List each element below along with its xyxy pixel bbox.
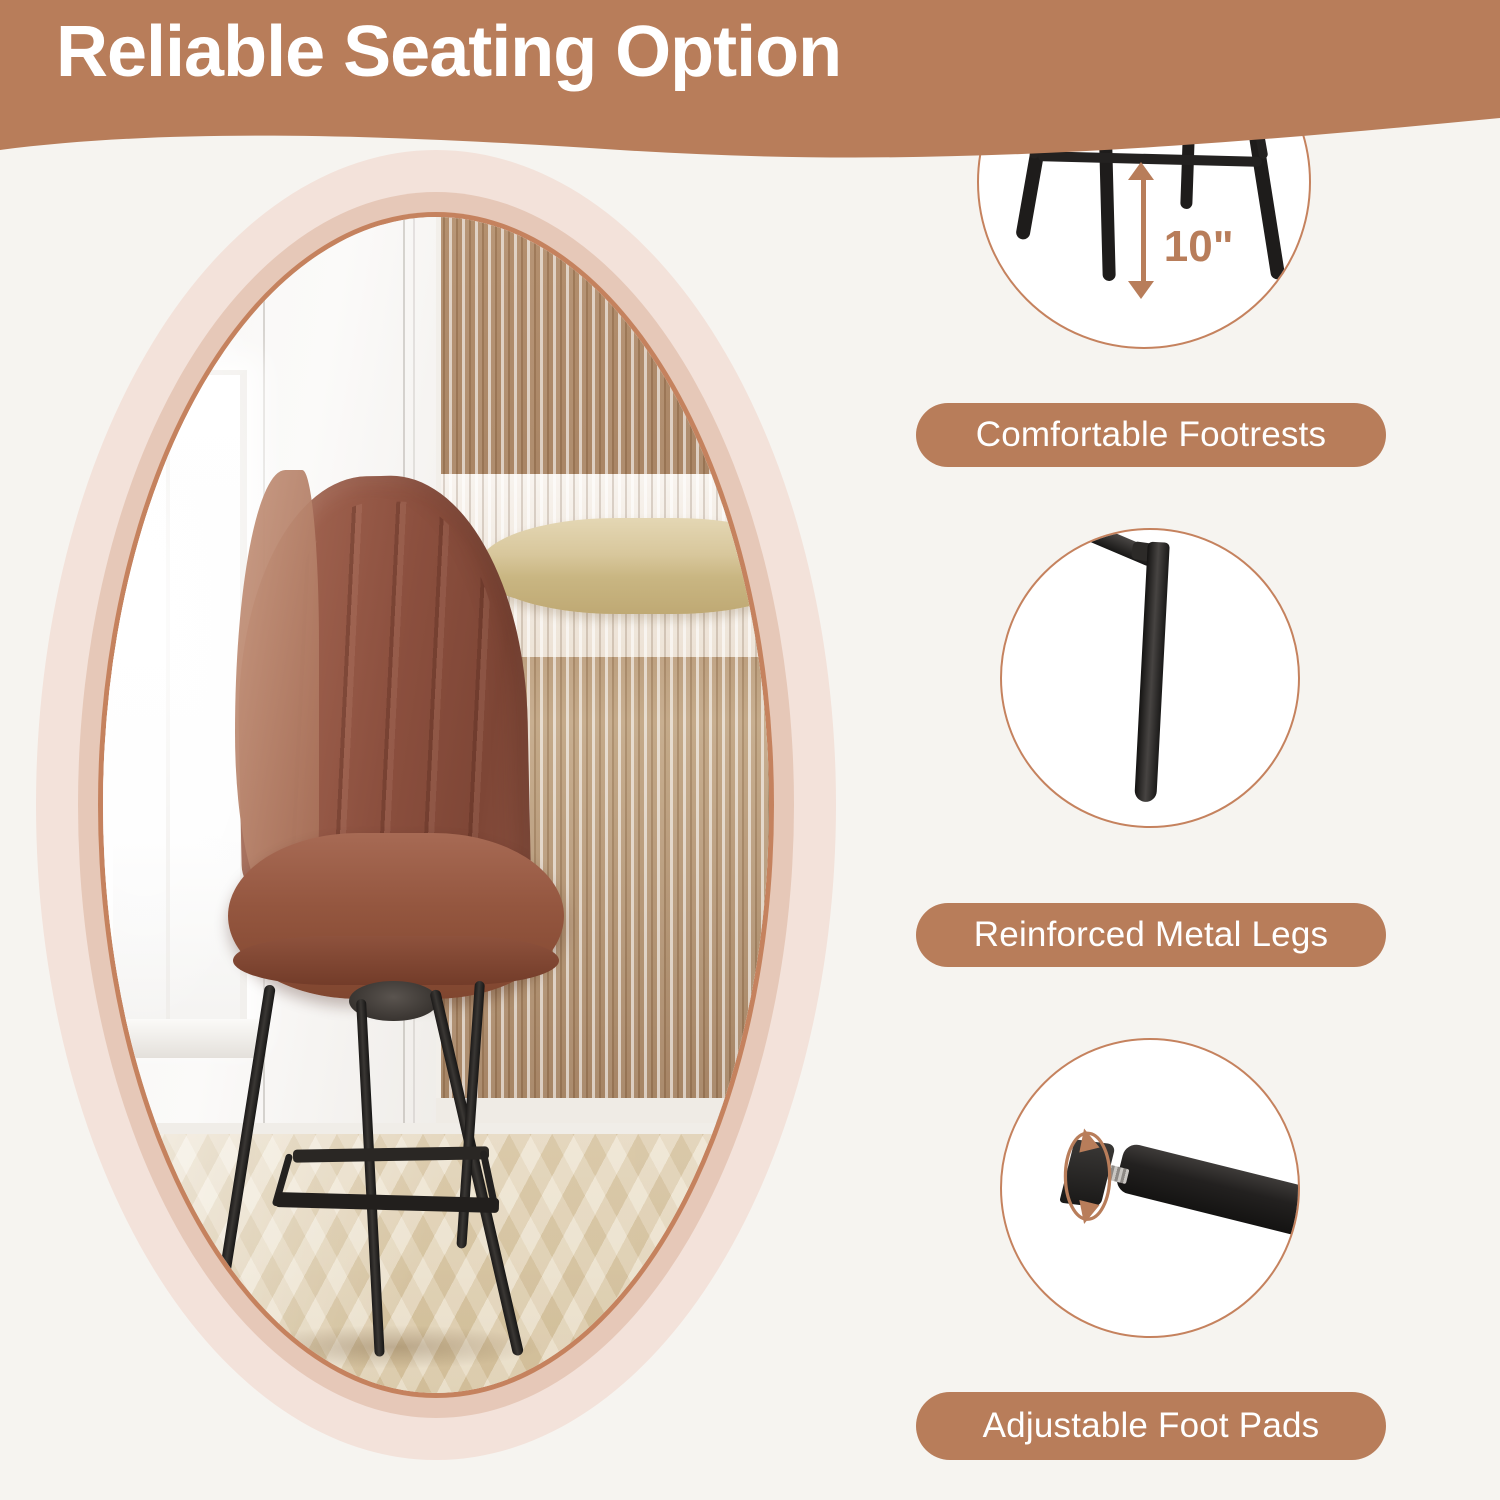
feature-label-footrests[interactable]: Comfortable Footrests	[916, 403, 1386, 467]
room-scene	[103, 217, 769, 1393]
dimension-arrow-head-down	[1128, 281, 1154, 299]
detail-circle-foot-pad	[1000, 1038, 1300, 1338]
detail-circle-metal-leg	[1000, 528, 1300, 828]
bar-stool	[210, 476, 676, 1370]
footrest-rail	[293, 1146, 489, 1162]
hero-oval-frame	[36, 150, 836, 1460]
infographic-canvas: Reliable Seating Option	[0, 0, 1500, 1500]
dimension-label: 10"	[1164, 222, 1234, 272]
tapered-metal-leg	[1134, 541, 1170, 802]
page-title: Reliable Seating Option	[56, 16, 841, 88]
hero-photo	[103, 217, 769, 1393]
feature-label-metal-legs[interactable]: Reinforced Metal Legs	[916, 903, 1386, 967]
rotation-arrow-icon	[1055, 1120, 1120, 1232]
stool-leg	[356, 998, 384, 1356]
stool-leg	[208, 984, 276, 1348]
feature-label-foot-pads[interactable]: Adjustable Foot Pads	[916, 1392, 1386, 1460]
seat-welt-trim	[233, 936, 559, 985]
leg-end	[1114, 1141, 1300, 1246]
stool-shadow	[238, 1325, 546, 1370]
